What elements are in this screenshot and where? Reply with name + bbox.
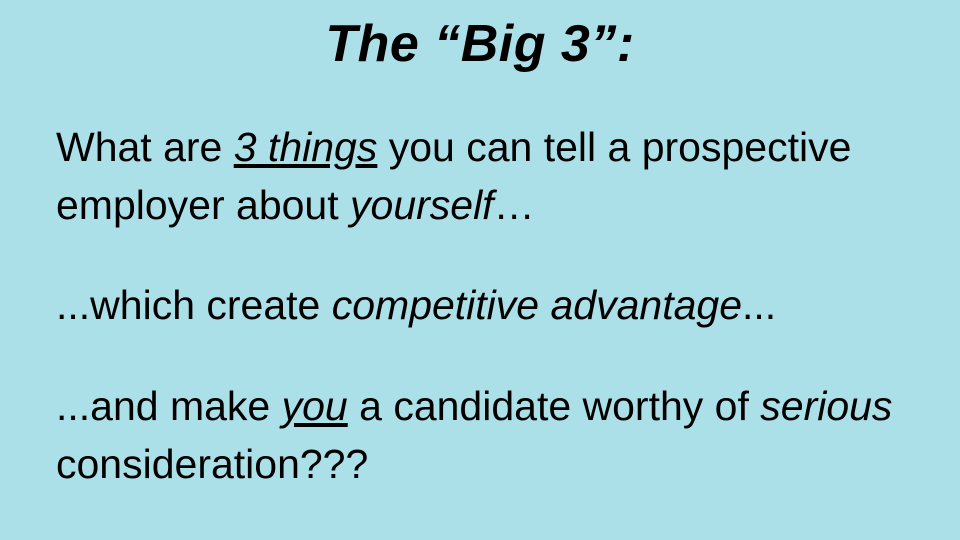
text-run: ... [742,282,776,328]
text-run: What are [56,124,234,170]
text-run-emphasis: competitive advantage [332,282,742,328]
text-run: ...which create [56,282,332,328]
text-run-emphasis: 3 things [234,124,378,170]
text-run-emphasis: yourself [350,182,494,228]
page-title: The “Big 3”: [0,16,960,73]
text-run-emphasis: serious [760,383,892,429]
text-run: consideration??? [56,441,368,487]
text-run: … [494,182,535,228]
body-paragraph-2: ...which create competitive advantage... [56,276,926,334]
text-run: a candidate worthy of [348,383,761,429]
text-run: ...and make [56,383,282,429]
slide: The “Big 3”: What are 3 things you can t… [0,0,960,540]
slide-body: What are 3 things you can tell a prospec… [56,118,926,493]
body-paragraph-3: ...and make you a candidate worthy of se… [56,377,926,493]
text-run-emphasis: you [282,383,348,429]
body-paragraph-1: What are 3 things you can tell a prospec… [56,118,926,234]
